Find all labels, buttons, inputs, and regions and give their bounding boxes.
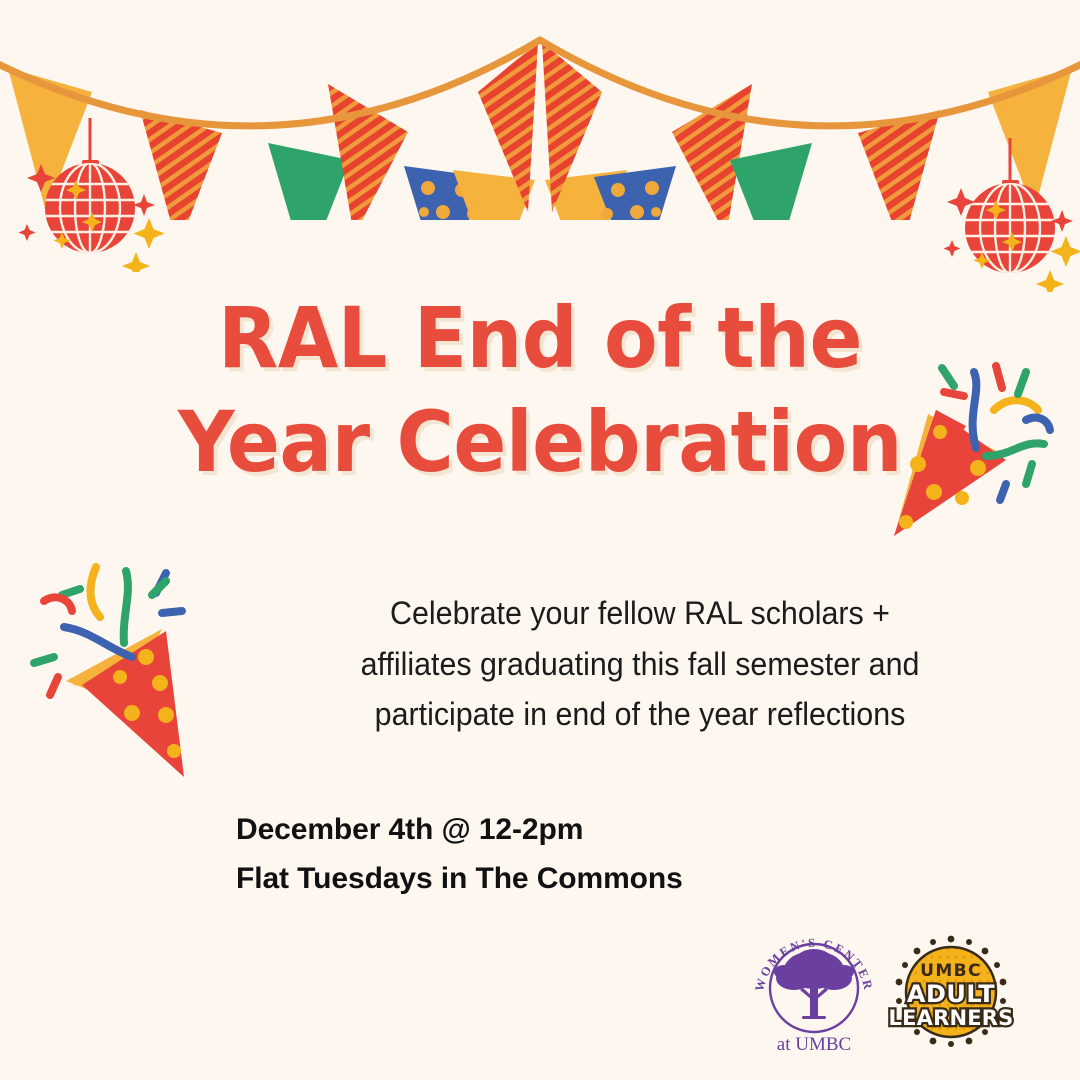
- adult-learners-umbc-text: UMBC: [920, 961, 982, 981]
- poster-canvas: RAL End of the Year Celebration Celebrat…: [0, 0, 1080, 1080]
- poster-title: RAL End of the Year Celebration: [0, 286, 1080, 494]
- bunting-banner-decoration: [0, 0, 1080, 220]
- adult-learners-learners-text: LEARNERS: [889, 1006, 1014, 1030]
- disco-ball-left-decoration: [18, 112, 168, 272]
- description-line-1: Celebrate your fellow RAL scholars +: [308, 588, 973, 639]
- description-line-3: participate in end of the year reflectio…: [308, 689, 973, 740]
- title-line-1: RAL End of the: [38, 286, 1042, 390]
- title-line-2: Year Celebration: [38, 390, 1042, 494]
- event-details: December 4th @ 12-2pm Flat Tuesdays in T…: [236, 806, 683, 903]
- decorations-layer: [0, 0, 1080, 1080]
- womens-center-sub-text: at UMBC: [777, 1034, 851, 1055]
- event-location: Flat Tuesdays in The Commons: [236, 855, 683, 904]
- description-line-2: affiliates graduating this fall semester…: [308, 639, 973, 690]
- womens-center-umbc-logo: WOMEN'S CENTER at UMBC: [748, 926, 880, 1058]
- umbc-adult-learners-logo: UMBC ADULT LEARNERS: [888, 929, 1014, 1055]
- poster-description: Celebrate your fellow RAL scholars + aff…: [290, 588, 990, 740]
- event-datetime: December 4th @ 12-2pm: [236, 806, 683, 855]
- adult-learners-adult-text: ADULT: [907, 980, 995, 1008]
- logo-row: WOMEN'S CENTER at UMBC: [748, 922, 1028, 1062]
- party-popper-left-decoration: [14, 545, 224, 785]
- disco-ball-right-decoration: [938, 132, 1080, 292]
